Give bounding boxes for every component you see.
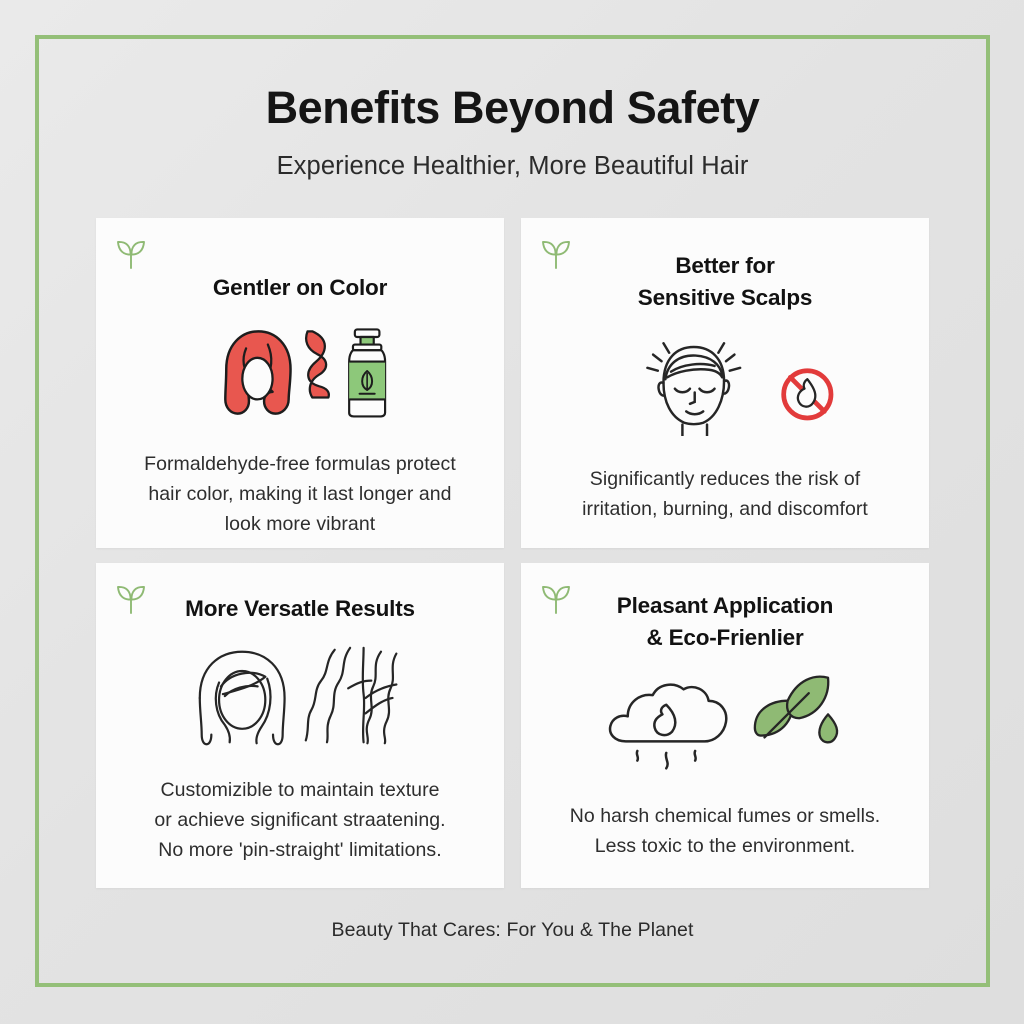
card-artwork [600,330,850,436]
leaf-sprout-icon [115,581,147,615]
fume-cloud-icon [610,685,726,769]
card-description: Customizible to maintain texture or achi… [154,776,445,865]
red-hair-icon [225,332,290,414]
benefit-card-versatile-results: More Versatle Results [96,563,504,888]
card-artwork [180,320,420,424]
card-title: More Versatle Results [185,593,415,625]
card-title: Pleasant Application & Eco-Frienlier [617,590,833,654]
benefit-card-sensitive-scalps: Better for Sensitive Scalps [521,218,929,548]
leaf-sprout-icon [540,581,572,615]
benefits-grid: Gentler on Color [96,218,929,888]
leaf-sprout-icon [115,236,147,270]
calm-face-icon [647,343,740,436]
eco-leaves-droplet-icon [755,677,837,743]
card-artwork [170,644,430,750]
poster-content: Benefits Beyond Safety Experience Health… [35,35,990,987]
card-description: Formaldehyde-free formulas protect hair … [144,450,456,539]
card-description: No harsh chemical fumes or smells. Less … [570,802,881,862]
card-description: Significantly reduces the risk of irrita… [582,465,868,525]
benefit-card-pleasant-application: Pleasant Application & Eco-Frienlier [521,563,929,888]
card-title: Better for Sensitive Scalps [638,250,812,314]
hair-strands-texture-icon [306,648,397,743]
leaf-sprout-icon [540,236,572,270]
card-artwork [600,672,850,776]
red-hair-strand-icon [306,332,329,398]
footer-tagline: Beauty That Cares: For You & The Planet [332,919,694,942]
infographic-poster: Benefits Beyond Safety Experience Health… [0,0,1024,1024]
card-title: Gentler on Color [213,272,387,304]
green-bottle-icon [349,330,385,417]
page-subtitle: Experience Healthier, More Beautiful Hai… [277,152,749,181]
no-irritation-icon [784,371,831,418]
page-title: Benefits Beyond Safety [266,84,760,131]
wavy-hair-head-icon [200,652,285,745]
benefit-card-gentler-on-color: Gentler on Color [96,218,504,548]
